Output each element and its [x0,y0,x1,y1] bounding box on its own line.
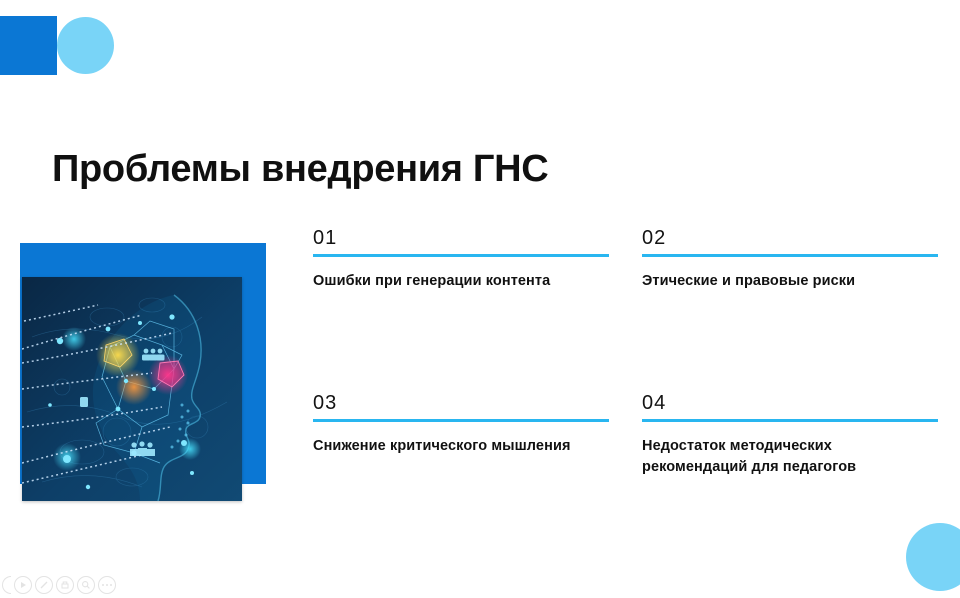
problem-item-03: 03 Снижение критического мышления [313,393,609,457]
pen-icon[interactable] [35,576,53,594]
decor-circle-top-left [57,17,114,74]
previous-icon[interactable] [2,576,11,594]
problem-item-number: 03 [313,393,609,419]
problem-item-divider [313,419,609,422]
illustration-block [20,243,266,501]
decor-square-top-left [0,16,57,75]
decor-circle-bottom-right [906,523,960,591]
problem-item-divider [642,254,938,257]
print-icon[interactable] [56,576,74,594]
ai-neural-network-head-image [22,277,242,501]
search-icon[interactable] [77,576,95,594]
more-icon[interactable] [98,576,116,594]
problem-item-number: 02 [642,228,938,254]
problem-item-02: 02 Этические и правовые риски [642,228,938,292]
problem-item-number: 04 [642,393,938,419]
problem-item-01: 01 Ошибки при генерации контента [313,228,609,292]
problem-item-divider [313,254,609,257]
problem-item-text: Этические и правовые риски [642,271,932,292]
problem-item-number: 01 [313,228,609,254]
slide-title: Проблемы внедрения ГНС [52,148,548,191]
presentation-viewer-toolbar[interactable] [2,576,116,594]
problem-item-text: Ошибки при генерации контента [313,271,603,292]
problem-item-text: Недостаток методических рекомендаций для… [642,436,932,478]
play-icon[interactable] [14,576,32,594]
problem-item-text: Снижение критического мышления [313,436,603,457]
presentation-slide: Проблемы внедрения ГНС [0,0,960,598]
problem-item-04: 04 Недостаток методических рекомендаций … [642,393,938,478]
problem-item-divider [642,419,938,422]
